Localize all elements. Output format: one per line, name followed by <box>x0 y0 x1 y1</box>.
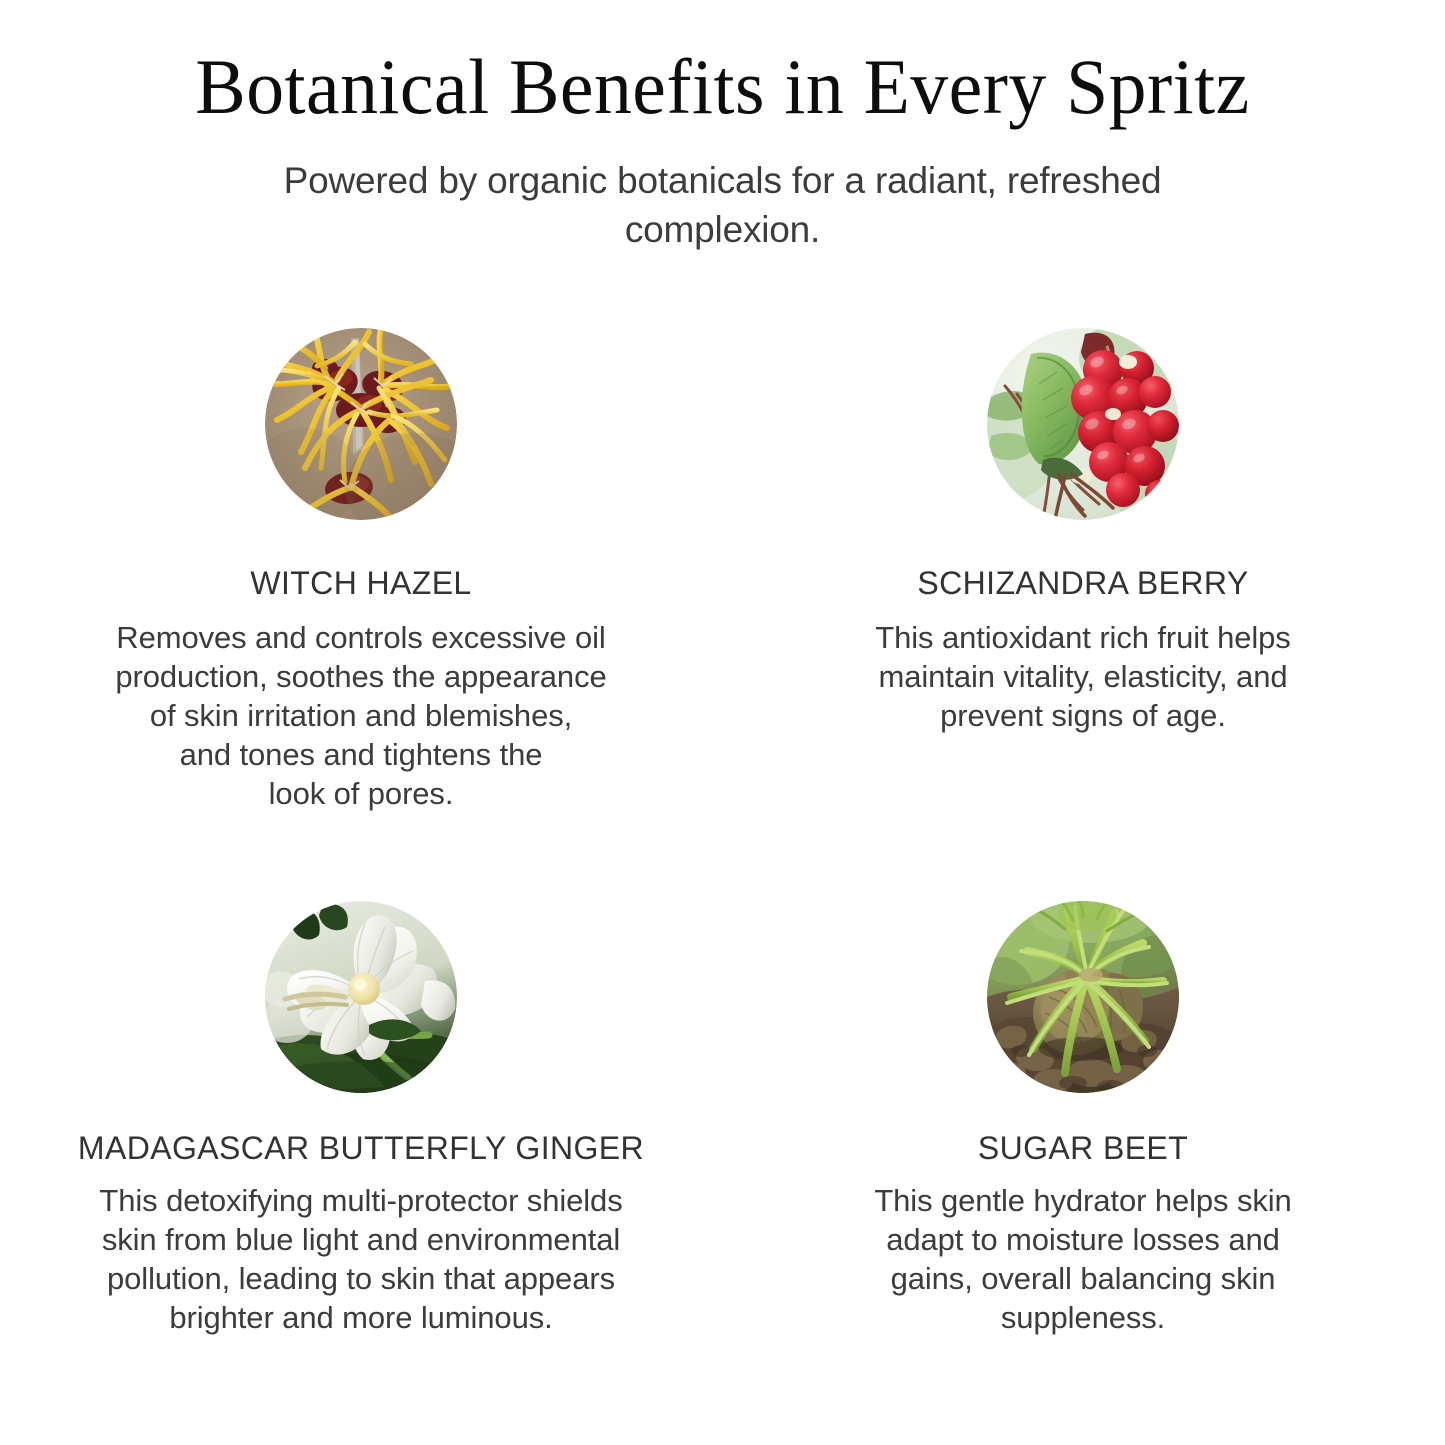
ingredient-name: SUGAR BEET <box>978 1129 1188 1167</box>
ingredient-description: This antioxidant rich fruit helps mainta… <box>875 618 1290 735</box>
page-title: Botanical Benefits in Every Spritz <box>22 44 1424 130</box>
ingredient-row-2: MADAGASCAR BUTTERFLY GINGER This detoxif… <box>0 901 1445 1337</box>
botanical-benefits-panel: Botanical Benefits in Every Spritz Power… <box>0 0 1445 1445</box>
ingredient-description: Removes and controls excessive oil produ… <box>115 618 606 813</box>
ingredient-description: This detoxifying multi-protector shields… <box>99 1181 622 1337</box>
page-subtitle: Powered by organic botanicals for a radi… <box>273 156 1173 254</box>
butterfly-ginger-photo <box>265 901 457 1093</box>
ingredient-name: SCHIZANDRA BERRY <box>917 564 1248 602</box>
ingredient-grid: WITCH HAZEL Removes and controls excessi… <box>0 300 1445 1337</box>
ingredient-row-1: WITCH HAZEL Removes and controls excessi… <box>0 300 1445 813</box>
ingredient-name: WITCH HAZEL <box>250 564 471 602</box>
schizandra-berry-photo <box>987 328 1179 520</box>
header: Botanical Benefits in Every Spritz Power… <box>0 44 1445 254</box>
ingredient-card-schizandra-berry: SCHIZANDRA BERRY This antioxidant rich f… <box>722 300 1444 813</box>
ingredient-card-butterfly-ginger: MADAGASCAR BUTTERFLY GINGER This detoxif… <box>0 901 722 1337</box>
ingredient-name: MADAGASCAR BUTTERFLY GINGER <box>78 1129 644 1167</box>
ingredient-description: This gentle hydrator helps skin adapt to… <box>874 1181 1291 1337</box>
sugar-beet-photo <box>987 901 1179 1093</box>
witch-hazel-photo <box>265 328 457 520</box>
ingredient-card-sugar-beet: SUGAR BEET This gentle hydrator helps sk… <box>722 901 1444 1337</box>
ingredient-card-witch-hazel: WITCH HAZEL Removes and controls excessi… <box>0 300 722 813</box>
